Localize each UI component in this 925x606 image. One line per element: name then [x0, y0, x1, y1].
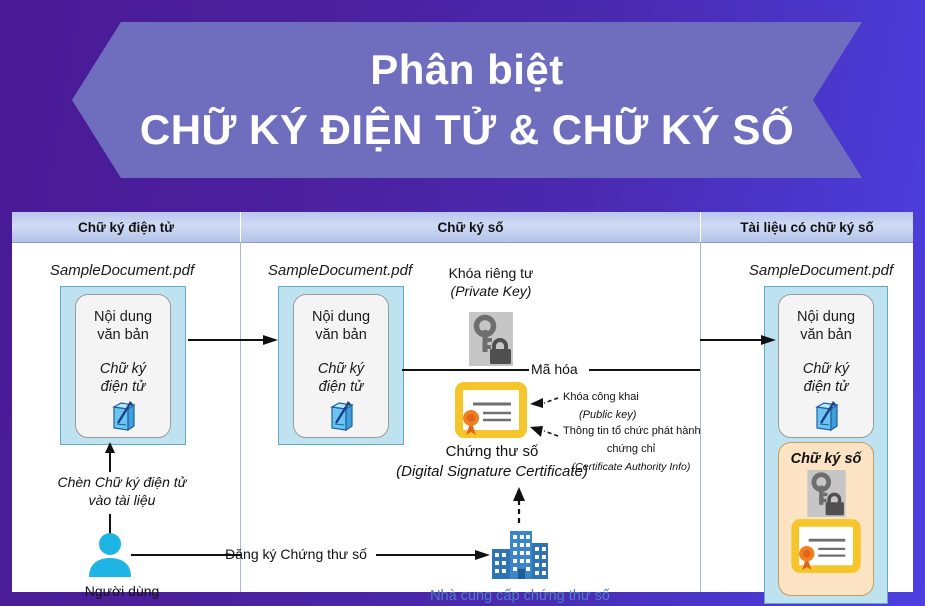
col2-annotation-2-en: (Certificate Authority Info): [572, 461, 691, 475]
diagram-panel: Chữ ký điện tử Chữ ký số Tài liệu có chữ…: [12, 212, 913, 592]
person-icon: [86, 532, 134, 577]
col3-sig-line1: Chữ ký: [803, 361, 849, 377]
col1-document-inner: Nội dung văn bản Chữ ký điện tử: [75, 294, 171, 438]
col2-content-line1: Nội dung: [312, 309, 370, 325]
col2-private-key-label-vi: Khóa riêng tư: [449, 265, 534, 281]
arrow-col1-to-col2: [188, 332, 280, 348]
col2-encrypt-label: Mã hóa: [531, 360, 578, 378]
col2-document-content: Nội dung văn bản: [312, 308, 370, 344]
col2-document-inner: Nội dung văn bản Chữ ký điện tử: [293, 294, 389, 438]
col3-filename: SampleDocument.pdf: [749, 262, 893, 279]
banner-title-line2: CHỮ KÝ ĐIỆN TỬ & CHỮ KÝ SỐ: [140, 109, 794, 151]
col2-private-key-label: Khóa riêng tư (Private Key): [449, 264, 534, 300]
col3-digital-signature-title: Chữ ký số: [791, 451, 862, 467]
col2-annotation-2-line1: Thông tin tổ chức phát hành: [563, 424, 701, 438]
col1-document-content: Nội dung văn bản: [94, 308, 152, 344]
col2-annotation-arrow-1: [524, 394, 560, 412]
col1-insert-arrow: [100, 442, 120, 472]
col3-document-inner: Nội dung văn bản Chữ ký điện tử: [778, 294, 874, 438]
column-header-label: Tài liệu có chữ ký số: [740, 220, 874, 235]
section-digital-signature: SampleDocument.pdf Nội dung văn bản Chữ …: [241, 242, 700, 592]
col2-encrypt-line-left: [402, 369, 529, 371]
col1-insert-note-line1: Chèn Chữ ký điện tử: [57, 474, 186, 490]
col2-document-signature-text: Chữ ký điện tử: [318, 360, 364, 396]
col1-document-card: Nội dung văn bản Chữ ký điện tử: [60, 286, 186, 445]
col1-document-signature-text: Chữ ký điện tử: [100, 360, 146, 396]
column-header-label: Chữ ký điện tử: [78, 220, 174, 235]
col1-sig-line1: Chữ ký: [100, 361, 146, 377]
col2-annotation-1-vi: Khóa công khai: [563, 391, 639, 403]
col2-annotation-arrow-2: [524, 424, 560, 442]
col1-content-line1: Nội dung: [94, 309, 152, 325]
col2-certificate-label-en: (Digital Signature Certificate): [396, 462, 588, 482]
key-lock-icon: [469, 312, 513, 366]
column-header-label: Chữ ký số: [437, 220, 503, 235]
col1-note-user-connector: [109, 514, 111, 534]
col2-register-arrow: [376, 548, 492, 562]
col2-private-key-label-en: (Private Key): [451, 283, 532, 299]
col2-sig-line2: điện tử: [319, 379, 364, 395]
banner-title-line1: Phân biệt: [370, 49, 564, 91]
col1-content-line2: văn bản: [97, 327, 149, 343]
col2-annotation-2-line2: chứng chỉ: [607, 442, 655, 456]
col3-sig-line2: điện tử: [804, 379, 849, 395]
col2-provider-label: Nhà cung cấp chứng thư số: [430, 587, 610, 606]
col3-document-content: Nội dung văn bản: [797, 308, 855, 344]
column-header-signed-document: Tài liệu có chữ ký số: [701, 212, 913, 243]
header-banner: Phân biệt CHỮ KÝ ĐIỆN TỬ & CHỮ KÝ SỐ: [72, 22, 862, 178]
col1-user-label: Người dùng: [85, 582, 160, 600]
column-header-electronic-signature: Chữ ký điện tử: [12, 212, 240, 243]
certificate-icon: [457, 384, 525, 436]
col3-content-line2: văn bản: [800, 327, 852, 343]
col2-issue-arrow: [509, 487, 529, 523]
col2-document-card: Nội dung văn bản Chữ ký điện tử: [278, 286, 404, 445]
section-electronic-signature: SampleDocument.pdf Nội dung văn bản Chữ …: [12, 242, 240, 592]
col3-content-line1: Nội dung: [797, 309, 855, 325]
col2-encrypt-line-right: [589, 369, 700, 371]
col2-register-label: Đăng ký Chứng thư số: [225, 545, 367, 563]
col3-digital-signature-box: Chữ ký số: [778, 442, 874, 596]
col2-sig-line1: Chữ ký: [318, 361, 364, 377]
arrow-col2-to-col3: [700, 332, 778, 348]
col1-insert-note: Chèn Chữ ký điện tử vào tài liệu: [57, 473, 186, 509]
signature-pen-icon: [108, 399, 138, 431]
key-lock-icon: [807, 470, 846, 517]
certificate-icon: [793, 521, 859, 571]
col3-document-signature-text: Chữ ký điện tử: [803, 360, 849, 396]
col2-annotation-1-en: (Public key): [579, 408, 636, 422]
col1-insert-note-line2: vào tài liệu: [89, 492, 156, 508]
col2-certificate-label: Chứng thư số: [446, 442, 539, 462]
column-header-digital-signature: Chữ ký số: [241, 212, 700, 243]
col2-content-line2: văn bản: [315, 327, 367, 343]
col1-filename: SampleDocument.pdf: [50, 262, 194, 279]
col1-sig-line2: điện tử: [101, 379, 146, 395]
signature-pen-icon: [811, 399, 841, 431]
signature-pen-icon: [326, 399, 356, 431]
col2-filename: SampleDocument.pdf: [268, 262, 412, 279]
col3-document-card: Nội dung văn bản Chữ ký điện tử: [764, 286, 888, 604]
col2-annotation-1: Khóa công khai: [563, 390, 639, 404]
section-signed-document: SampleDocument.pdf Nội dung văn bản Chữ …: [701, 242, 913, 592]
building-icon: [490, 523, 550, 579]
